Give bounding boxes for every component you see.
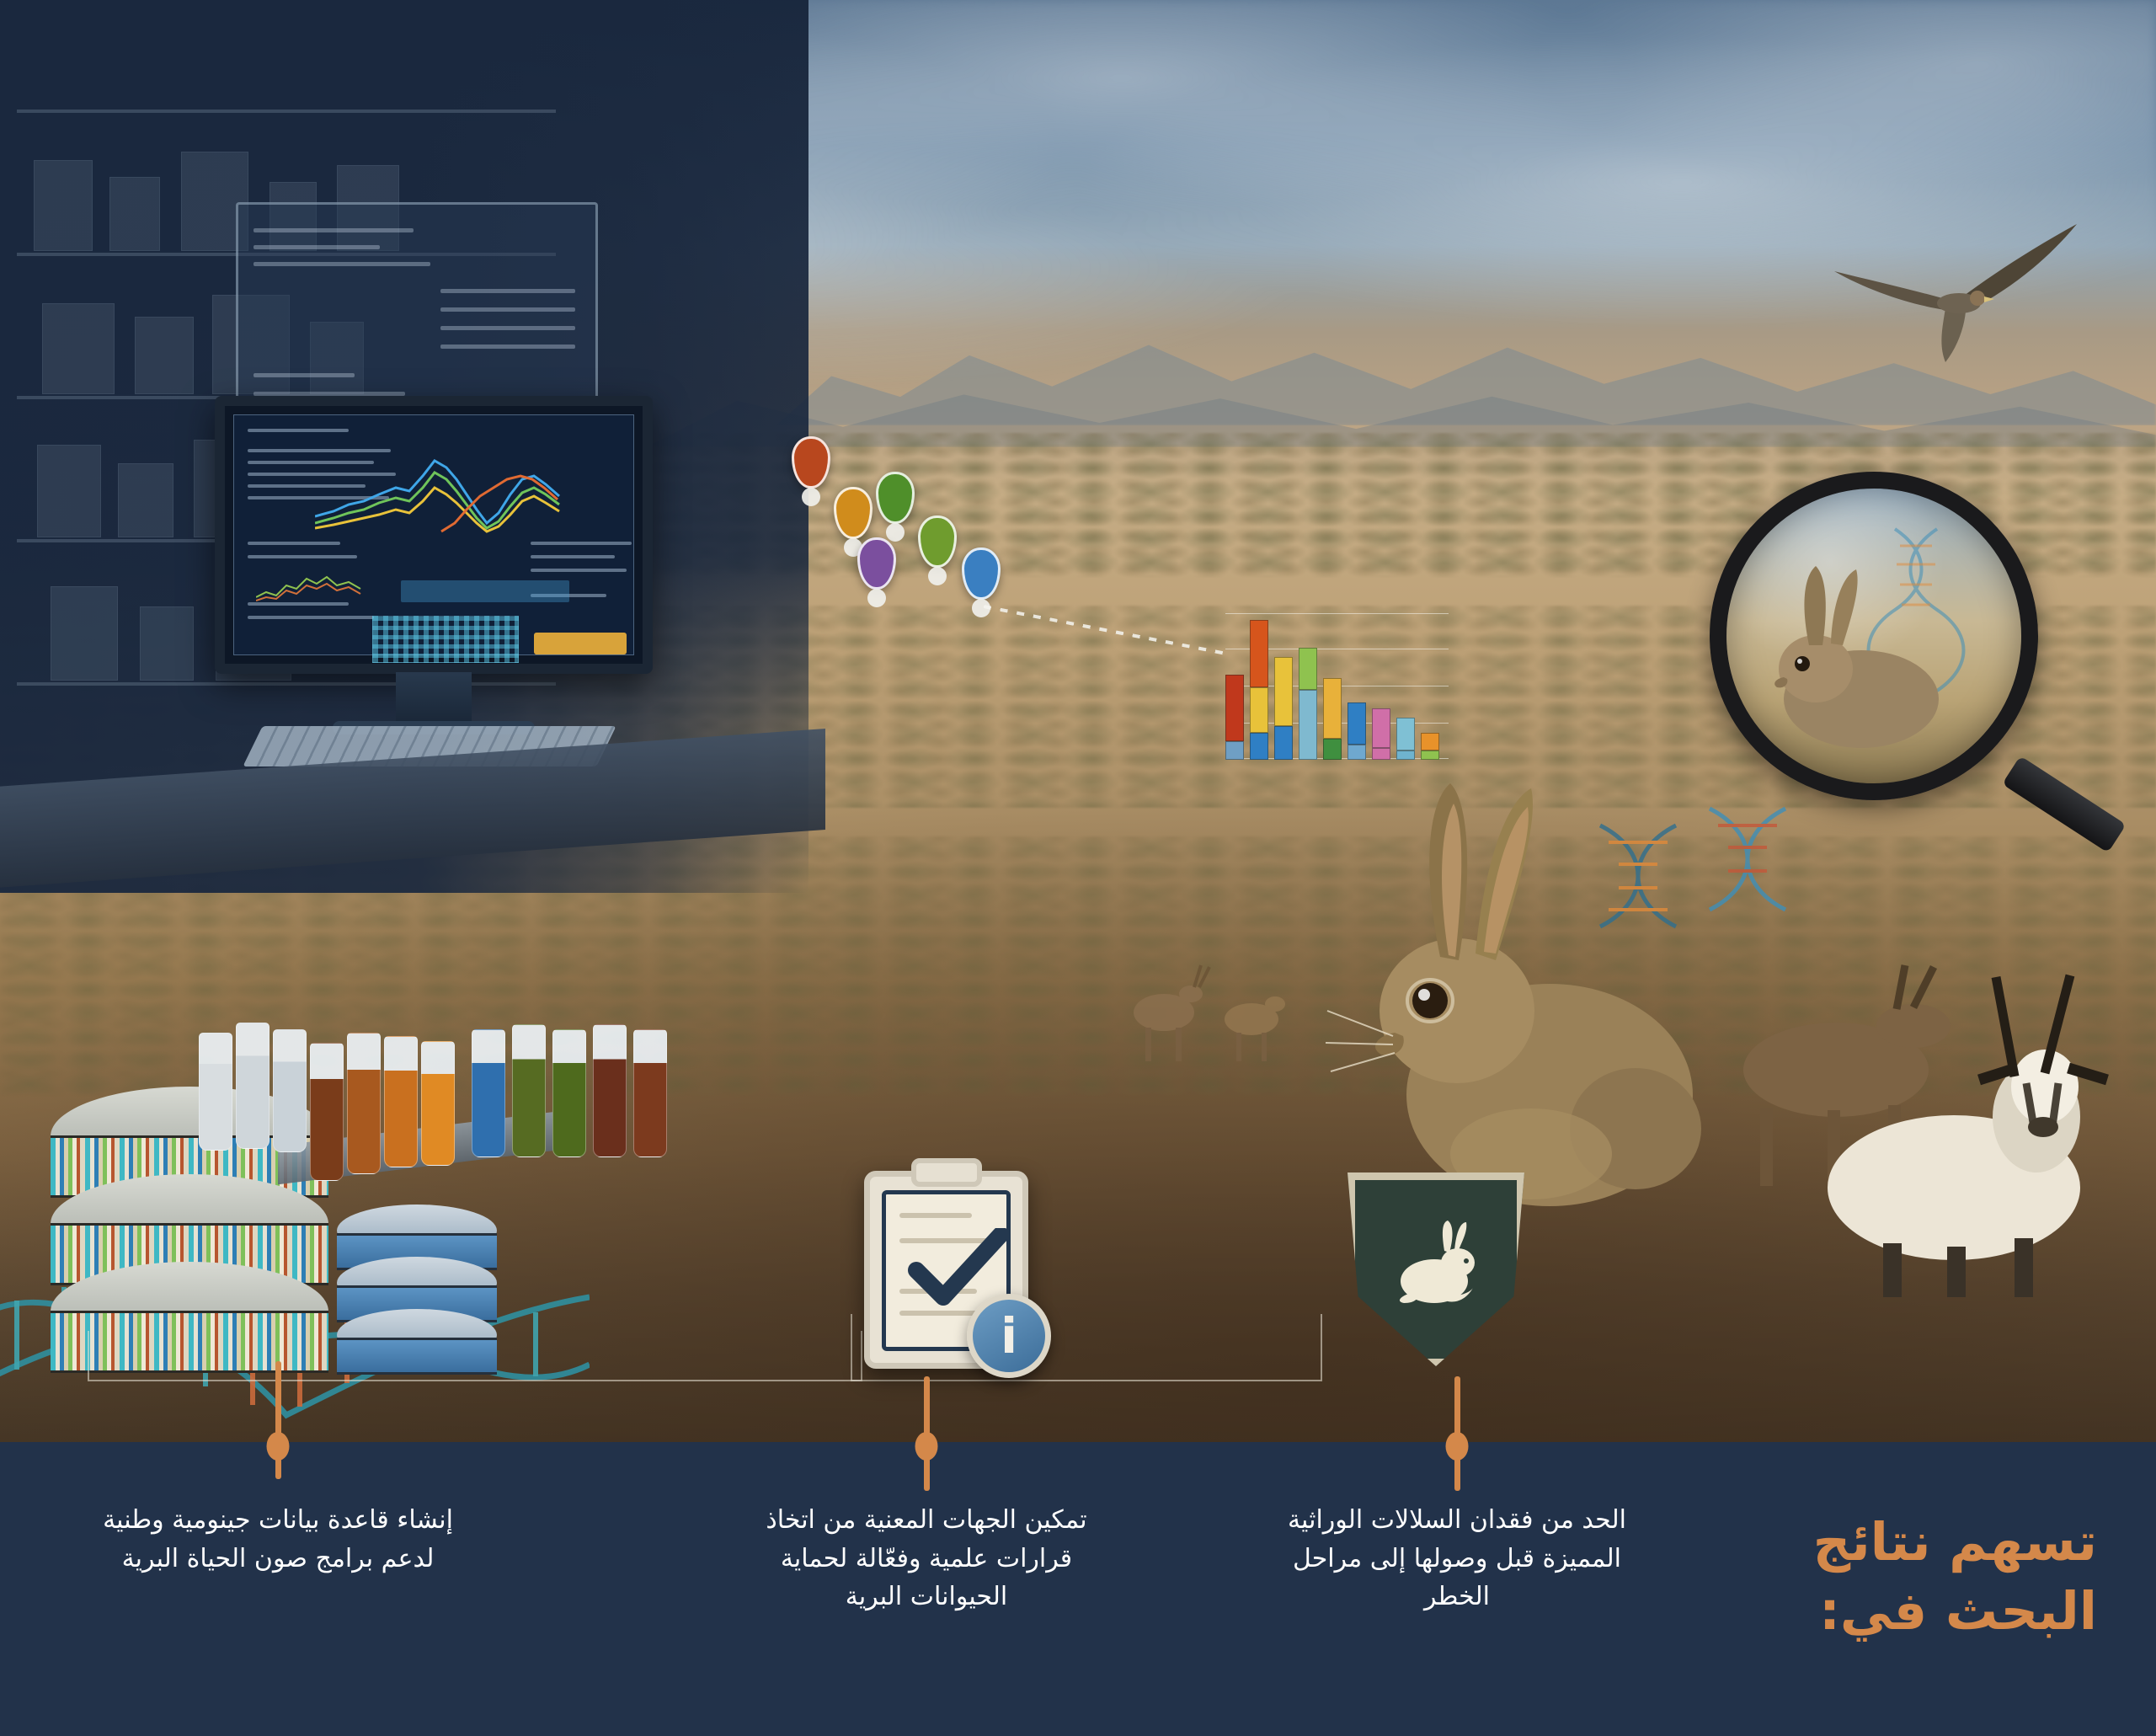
chart-bar-segment	[1299, 648, 1317, 690]
outcome-caption-decision-making: تمكين الجهات المعنية من اتخاذ قرارات علم…	[745, 1501, 1107, 1616]
cape-hare-foreground	[1322, 758, 1718, 1230]
chart-bar-segment	[1274, 657, 1293, 727]
icon-connector-bracket-left	[88, 1331, 862, 1381]
desert-scene-artwork: i	[0, 0, 2156, 1442]
chart-bar	[1250, 620, 1268, 760]
infographic-poster: i تسهم نتائج البحث في: الحد من فقدان الس…	[0, 0, 2156, 1736]
chart-bar-segment	[1299, 690, 1317, 760]
chart-bar-segment	[1396, 718, 1415, 751]
headline-line-2: البحث في:	[1693, 1577, 2097, 1646]
headline-line-1: تسهم نتائج	[1693, 1508, 2097, 1577]
monitor-stand	[396, 672, 472, 723]
chart-bar	[1347, 702, 1366, 760]
dna-magnifier-hare	[1710, 472, 2038, 800]
outcome-caption-national-database: إنشاء قاعدة بيانات جينومية وطنية لدعم بر…	[97, 1501, 459, 1578]
raptor-bird-icon	[1819, 211, 2089, 371]
chart-bar	[1274, 657, 1293, 760]
gazelle-pair-midfield	[1120, 960, 1305, 1070]
chart-bar-segment	[1372, 708, 1390, 748]
shield-hare-icon	[1347, 1172, 1524, 1366]
chart-bar-segment	[1250, 620, 1268, 686]
outcome-caption-genetic-loss: الحد من فقدان السلالات الوراثية المميزة …	[1276, 1501, 1638, 1616]
laboratory-overlay	[0, 0, 808, 893]
connector-dot-genetic	[1446, 1432, 1469, 1461]
clipboard-clip	[911, 1158, 982, 1187]
chart-bar-segment	[1323, 739, 1342, 760]
connector-line-database	[275, 1361, 281, 1479]
genomics-dashboard-monitor	[215, 396, 653, 674]
connector-dot-database	[267, 1432, 290, 1461]
clipboard-check-icon: i	[864, 1171, 1028, 1369]
chart-bar	[1421, 733, 1439, 760]
chart-bar	[1299, 648, 1317, 760]
chart-bar	[1323, 678, 1342, 760]
connector-dot-decision	[915, 1432, 938, 1461]
chart-bar-segment	[1274, 726, 1293, 760]
chart-bar	[1396, 718, 1415, 760]
chart-bar	[1372, 708, 1390, 760]
chart-bar-segment	[1347, 702, 1366, 745]
field-data-bar-chart	[1225, 608, 1449, 760]
page-title: تسهم نتائج البحث في:	[1693, 1508, 2097, 1646]
chart-bar-segment	[1225, 675, 1244, 741]
chart-bar-segment	[1225, 741, 1244, 760]
chart-bar-segment	[1323, 678, 1342, 739]
chart-bar-segment	[1421, 733, 1439, 751]
arabian-oryx-and-gazelle	[1701, 960, 2139, 1297]
chart-bar-segment	[1250, 733, 1268, 760]
info-badge-icon: i	[967, 1294, 1051, 1378]
chart-bar	[1225, 675, 1244, 760]
chart-bar-segment	[1250, 687, 1268, 733]
